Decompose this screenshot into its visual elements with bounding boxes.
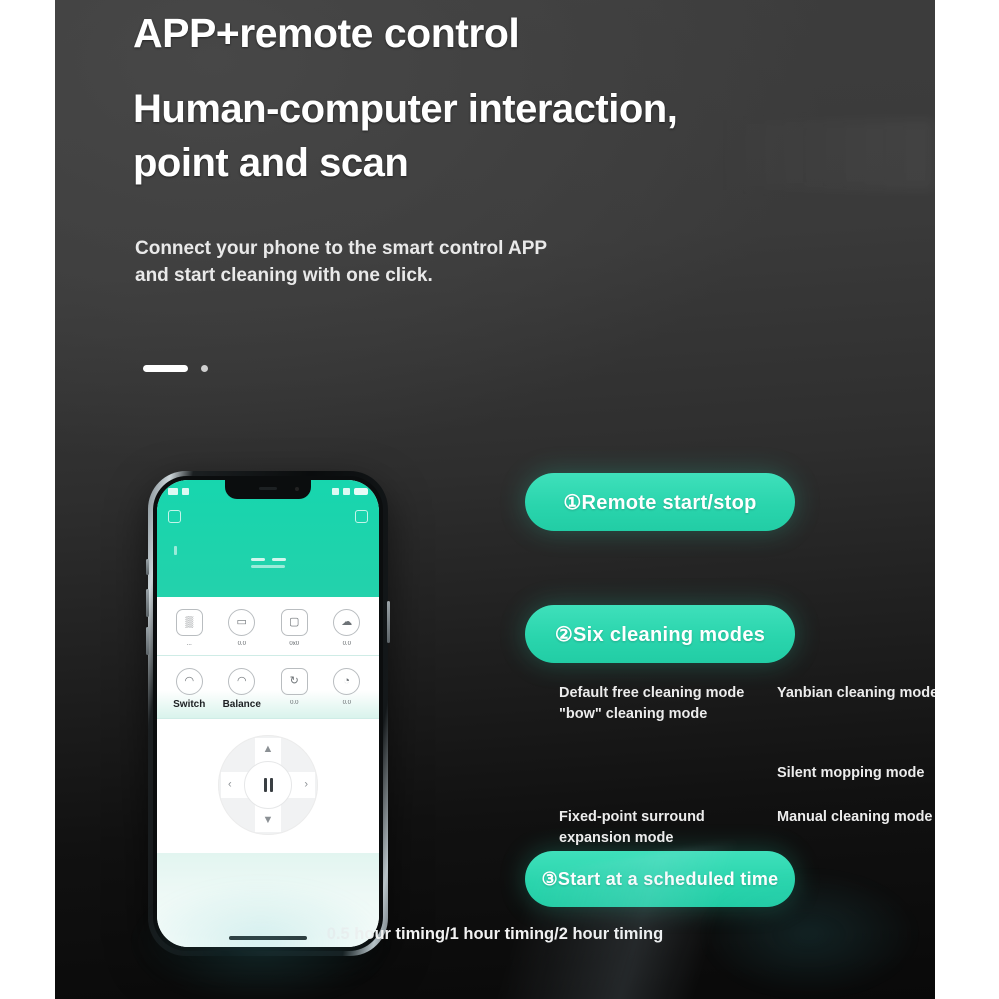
balance-mode-icon[interactable]: ◠ <box>228 668 255 695</box>
map-icon[interactable] <box>355 510 368 523</box>
poster-page: APP+remote control Human-computer intera… <box>0 0 999 999</box>
app-icon-cell[interactable]: ◠ Balance <box>219 668 265 710</box>
status-icon-row: ▒ ... ▭ 0.0 ▢ 0x0 <box>163 609 373 647</box>
cleaning-mode-item: Yanbian cleaning mode <box>777 683 935 763</box>
icon-label: 0.0 <box>271 700 317 706</box>
app-icon-cell[interactable]: ◠ Switch <box>166 668 212 710</box>
vacuum-map-icon[interactable]: ▒ <box>176 609 203 636</box>
battery-status-icon[interactable]: ▭ <box>228 609 255 636</box>
wifi-icon <box>182 488 189 495</box>
status-bar <box>157 484 379 498</box>
phone-screen: ▒ ... ▭ 0.0 ▢ 0x0 <box>157 480 379 947</box>
heading-line-2: Human-computer interaction, <box>133 82 893 136</box>
pagination-dot[interactable] <box>201 365 208 372</box>
recharge-icon[interactable]: ↻ <box>281 668 308 695</box>
phone-power-button[interactable] <box>387 601 390 643</box>
app-icon-cell[interactable]: ☁ 0.0 <box>324 609 370 647</box>
product-glow-right <box>705 859 935 999</box>
app-nav-row <box>157 510 379 523</box>
signal-icon <box>168 488 178 495</box>
timer-icon[interactable]: ◔ <box>333 668 360 695</box>
cellular-icon <box>332 488 339 495</box>
battery-icon <box>354 488 368 495</box>
controls-icon-row: ◠ Switch ◠ Balance ↻ 0.0 <box>163 668 373 710</box>
feature-pill-label: ②Six cleaning modes <box>555 622 765 647</box>
phone-volume-up-button[interactable] <box>146 589 149 617</box>
app-header <box>157 480 379 597</box>
icon-label: 0.0 <box>219 641 265 647</box>
app-icon-cell[interactable]: ▭ 0.0 <box>219 609 265 647</box>
phone-mute-switch[interactable] <box>146 559 149 575</box>
icon-label: 0x0 <box>271 641 317 647</box>
carousel-pagination[interactable] <box>143 365 208 372</box>
page-title: APP+remote control <box>133 10 873 57</box>
cleaning-mode-item <box>559 763 777 807</box>
status-bar-right <box>332 488 368 495</box>
icon-label: ... <box>166 641 212 647</box>
robot-vacuum-illustration <box>236 558 300 568</box>
icon-label: 0.0 <box>324 641 370 647</box>
pause-icon[interactable] <box>244 761 292 809</box>
app-icon-cell[interactable]: ↻ 0.0 <box>271 668 317 706</box>
product-glow-left <box>85 879 405 999</box>
intro-text: Connect your phone to the smart control … <box>135 236 555 290</box>
feature-pill-label: ①Remote start/stop <box>563 490 756 515</box>
phone-volume-down-button[interactable] <box>146 627 149 655</box>
app-icon-cell[interactable]: ◔ 0.0 <box>324 668 370 706</box>
icon-label: Switch <box>166 700 212 710</box>
heading-line-3: point and scan <box>133 136 893 190</box>
chevron-right-icon[interactable]: › <box>304 780 308 791</box>
chevron-down-icon[interactable]: ▼ <box>263 815 274 826</box>
app-icon-cell[interactable]: ▢ 0x0 <box>271 609 317 647</box>
menu-icon[interactable] <box>168 510 181 523</box>
direction-pad[interactable]: ▲ ▼ ‹ › <box>218 735 318 835</box>
icon-label: 0.0 <box>324 700 370 706</box>
status-indicator-badge <box>174 546 177 555</box>
cleaning-mode-item: Silent mopping mode <box>777 763 935 807</box>
area-icon[interactable]: ▢ <box>281 609 308 636</box>
status-bar-left <box>168 488 189 495</box>
icon-label: Balance <box>219 700 265 710</box>
chevron-left-icon[interactable]: ‹ <box>228 780 232 791</box>
wifi-status-icon <box>343 488 350 495</box>
app-status-card: ▒ ... ▭ 0.0 ▢ 0x0 <box>157 597 379 656</box>
app-controls-card: ◠ Switch ◠ Balance ↻ 0.0 <box>157 656 379 719</box>
page-subtitle-heading: Human-computer interaction, point and sc… <box>133 82 893 190</box>
cleaning-mode-item: Default free cleaning mode "bow" cleanin… <box>559 683 777 763</box>
app-icon-cell[interactable]: ▒ ... <box>166 609 212 647</box>
chevron-up-icon[interactable]: ▲ <box>263 744 274 755</box>
cloud-icon[interactable]: ☁ <box>333 609 360 636</box>
cleaning-modes-list: Default free cleaning mode "bow" cleanin… <box>559 683 935 851</box>
poster-panel: APP+remote control Human-computer intera… <box>55 0 935 999</box>
feature-pill-six-cleaning-modes[interactable]: ②Six cleaning modes <box>525 605 795 663</box>
pagination-active-bar[interactable] <box>143 365 188 372</box>
feature-pill-remote-start-stop[interactable]: ①Remote start/stop <box>525 473 795 531</box>
power-switch-icon[interactable]: ◠ <box>176 668 203 695</box>
direction-pad-area: ▲ ▼ ‹ › <box>157 719 379 853</box>
